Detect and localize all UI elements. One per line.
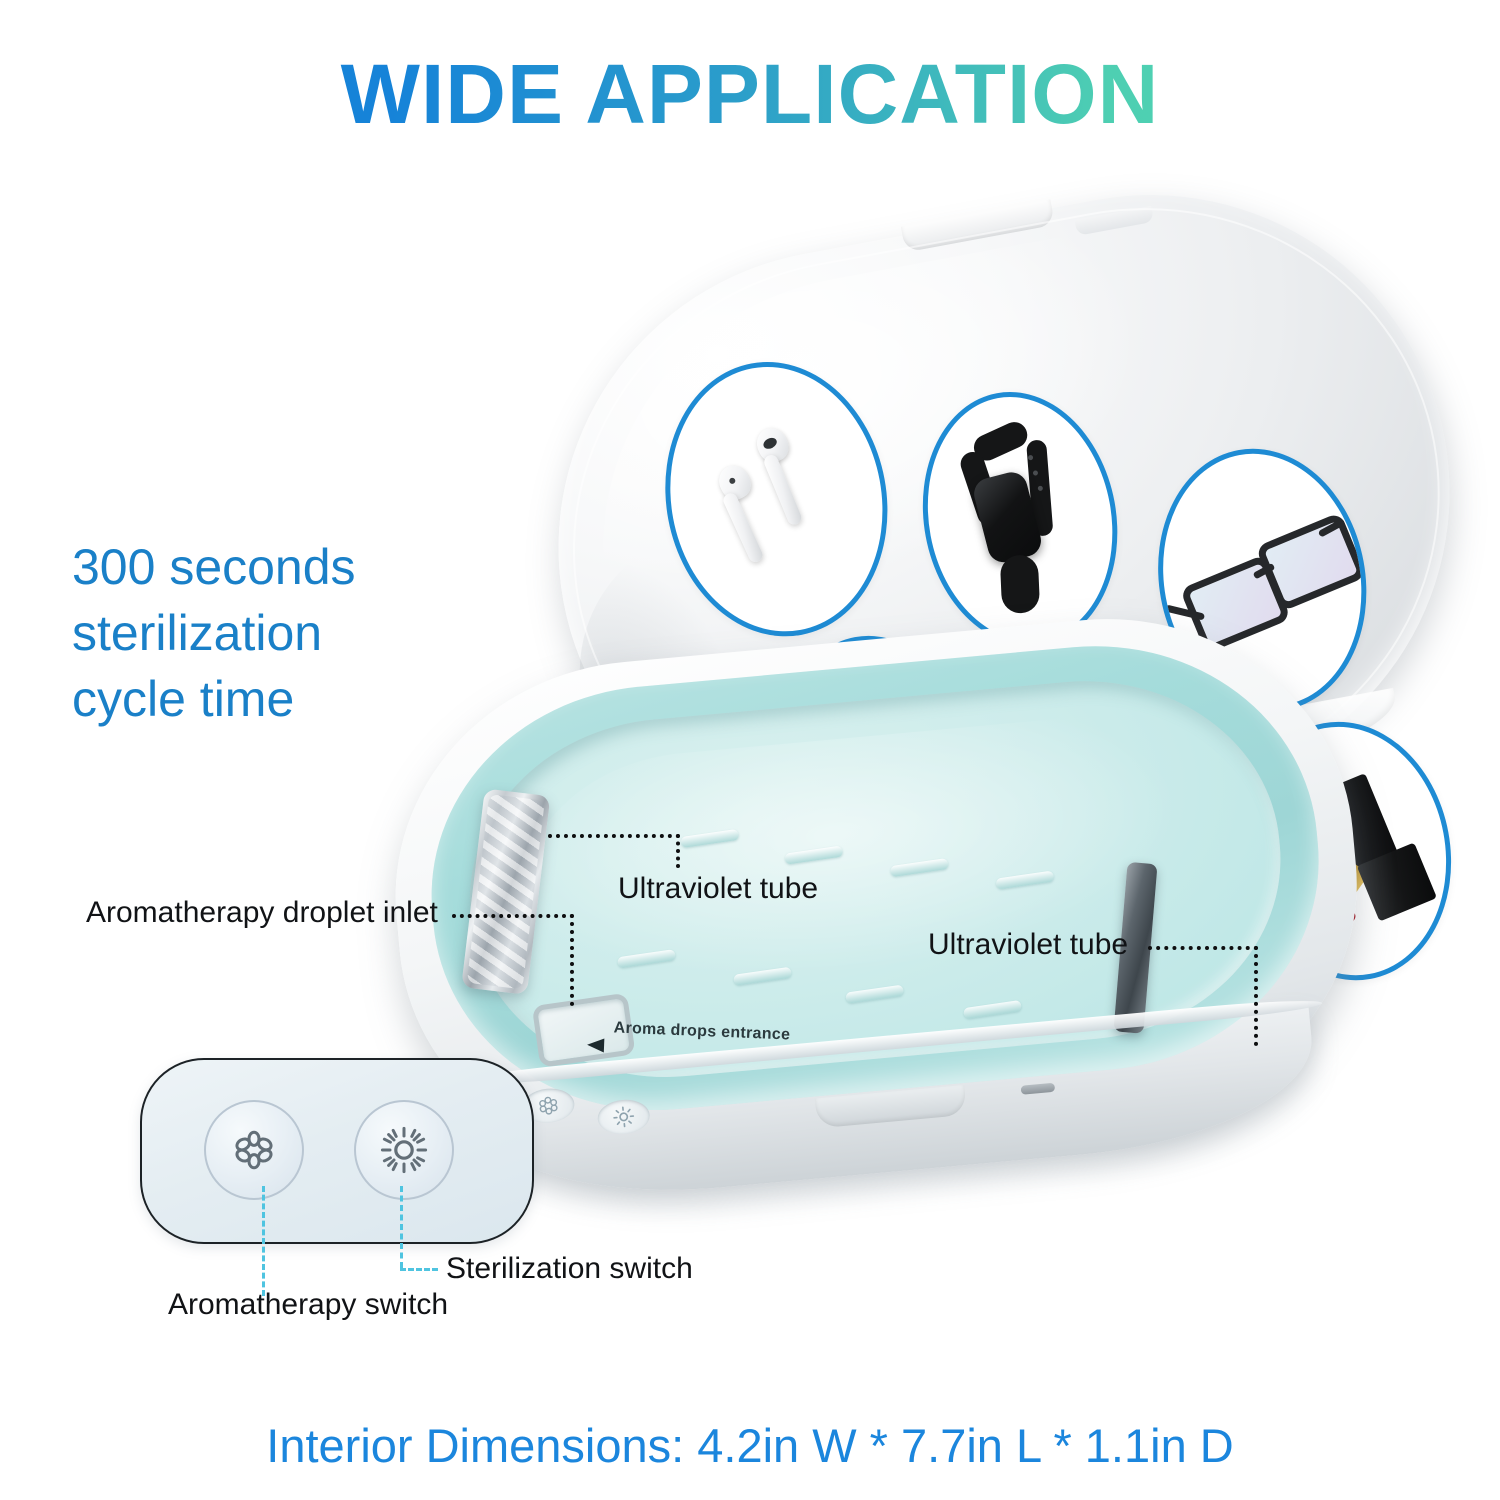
aromatherapy-button[interactable] [204,1100,304,1200]
leader-uv-left-vertical [676,834,680,868]
leader-aroma-vertical [570,914,574,1006]
infographic-canvas: WIDE APPLICATION 300 seconds sterilizati… [0,0,1500,1500]
leader-aroma-horizontal [452,914,574,918]
interior-dimensions: Interior Dimensions: 4.2in W * 7.7in L *… [0,1418,1500,1473]
callout-sterilization-switch: Sterilization switch [446,1252,693,1286]
callout-aroma-inlet: Aromatherapy droplet inlet [86,896,438,930]
callout-aromatherapy-switch: Aromatherapy switch [168,1288,448,1322]
leader-uv-right-horizontal [1148,946,1258,950]
cycle-time-line-1: 300 seconds [72,534,492,600]
leader-sterilize-switch-horizontal [400,1268,438,1271]
callout-uv-tube-left: Ultraviolet tube [618,872,818,906]
callout-uv-tube-right: Ultraviolet tube [928,928,1128,962]
leader-uv-right-vertical [1254,946,1258,1046]
aroma-arrow-icon [587,1038,605,1053]
sun-icon [612,1105,636,1129]
leader-sterilize-switch-vertical [400,1186,403,1268]
page-title: WIDE APPLICATION [0,52,1500,136]
leader-aroma-switch-vertical [262,1186,265,1296]
sun-icon [380,1126,428,1174]
flower-icon [230,1126,278,1174]
sterilization-button[interactable] [354,1100,454,1200]
switch-panel [140,1058,534,1244]
flower-icon [536,1094,560,1118]
leader-uv-left-horizontal [548,834,680,838]
cycle-time-line-2: sterilization [72,600,492,666]
